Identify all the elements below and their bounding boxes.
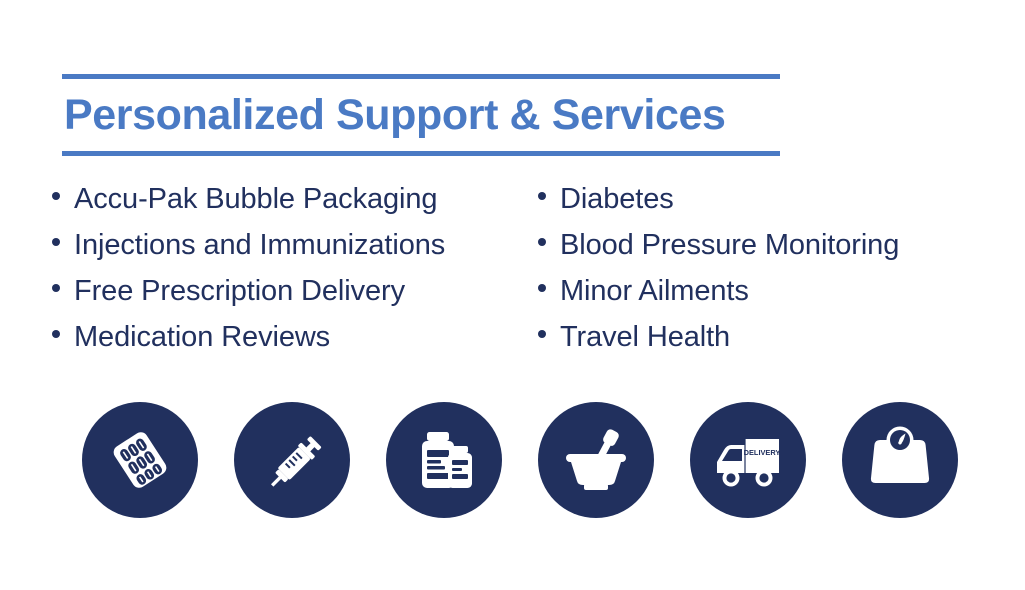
icon-badge-syringe (234, 402, 350, 518)
title-rule-bottom (62, 151, 780, 156)
icon-badge-blister-pack (82, 402, 198, 518)
list-item: Accu-Pak Bubble Packaging (52, 176, 538, 222)
list-item: Free Prescription Delivery (52, 268, 538, 314)
bullet-icon (52, 330, 60, 338)
bullet-icon (52, 284, 60, 292)
list-item-label: Blood Pressure Monitoring (560, 222, 899, 268)
bullet-icon (52, 192, 60, 200)
list-item-label: Medication Reviews (74, 314, 330, 360)
page-header: Personalized Support & Services (62, 74, 780, 156)
list-item: Minor Ailments (538, 268, 1008, 314)
delivery-van-icon: DELIVERY (709, 421, 787, 499)
syringe-icon (256, 424, 328, 496)
list-item-label: Travel Health (560, 314, 730, 360)
list-item-label: Accu-Pak Bubble Packaging (74, 176, 437, 222)
blister-pack-icon (104, 424, 176, 496)
icon-badge-weight-scale (842, 402, 958, 518)
services-list-left: Accu-Pak Bubble Packaging Injections and… (52, 176, 538, 360)
pill-bottles-icon (408, 424, 480, 496)
list-item: Travel Health (538, 314, 1008, 360)
bullet-icon (538, 238, 546, 246)
list-item-label: Injections and Immunizations (74, 222, 445, 268)
list-item: Diabetes (538, 176, 1008, 222)
mortar-and-pestle-icon (559, 423, 633, 497)
bullet-icon (538, 284, 546, 292)
services-list-right: Diabetes Blood Pressure Monitoring Minor… (538, 176, 1008, 360)
bullet-icon (538, 330, 546, 338)
icon-badge-pill-bottles (386, 402, 502, 518)
list-item-label: Diabetes (560, 176, 674, 222)
services-section: Accu-Pak Bubble Packaging Injections and… (0, 176, 1025, 360)
list-item: Blood Pressure Monitoring (538, 222, 1008, 268)
list-item-label: Free Prescription Delivery (74, 268, 405, 314)
page-title: Personalized Support & Services (62, 79, 780, 151)
weight-scale-icon (864, 424, 936, 496)
service-icons-row: DELIVERY (0, 402, 1025, 518)
icon-badge-delivery-van: DELIVERY (690, 402, 806, 518)
list-item: Medication Reviews (52, 314, 538, 360)
list-item: Injections and Immunizations (52, 222, 538, 268)
bullet-icon (538, 192, 546, 200)
icon-badge-mortar-pestle (538, 402, 654, 518)
list-item-label: Minor Ailments (560, 268, 749, 314)
bullet-icon (52, 238, 60, 246)
van-side-text: DELIVERY (744, 448, 781, 457)
